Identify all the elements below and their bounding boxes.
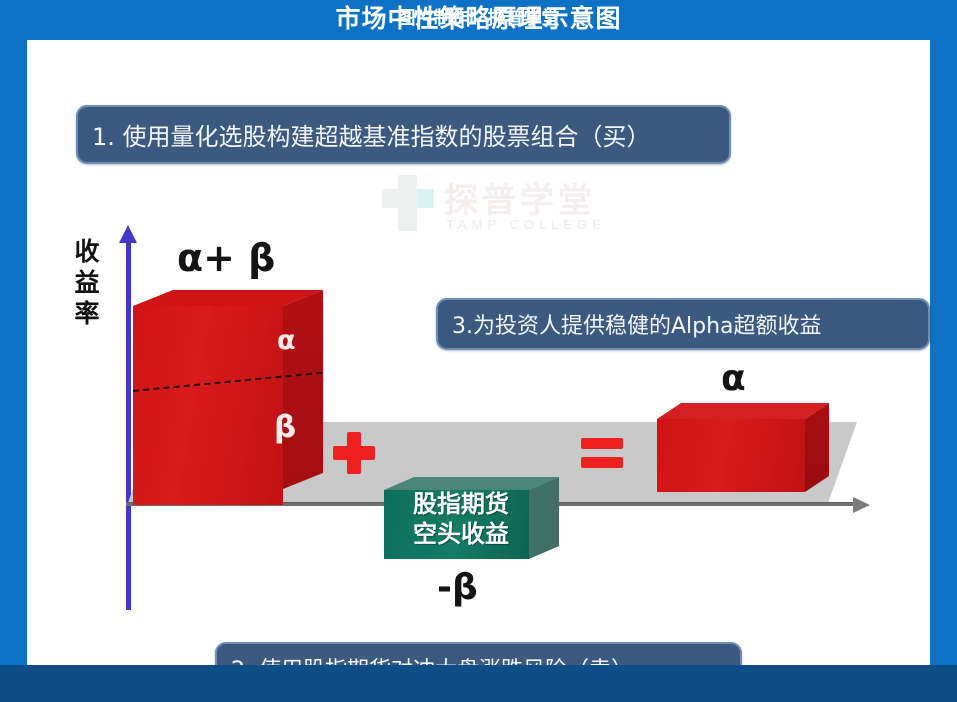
cross-logo-icon: [382, 175, 434, 231]
watermark-logo-subtitle: TAMP COLLEGE: [446, 217, 606, 232]
alpha-beta-box-front: [133, 306, 283, 505]
alpha-result-box: [657, 403, 829, 492]
plus-operator-icon: [333, 432, 375, 474]
diagram-stage: 探普学堂 TAMP COLLEGE 1. 使用量化选股构建超越基准指数的股票组合…: [27, 40, 930, 665]
green-box-label: 股指期货 空头收益: [387, 489, 535, 549]
beta-segment-label: β: [274, 409, 296, 445]
x-axis-arrow-icon: [853, 497, 870, 513]
green-box-label-line1: 股指期货: [387, 489, 535, 519]
green-box-label-line2: 空头收益: [387, 519, 535, 549]
alpha-result-box-front: [657, 419, 805, 492]
alpha-beta-box-side: [283, 290, 323, 505]
callout-step-1[interactable]: 1. 使用量化选股构建超越基准指数的股票组合（买）: [76, 105, 731, 164]
alpha-beta-box: [133, 290, 323, 505]
poster-root: 市场中性策略原理示意图 探普学堂 TAMP COLLEGE 1. 使用量化选股构…: [0, 0, 957, 702]
footer-bar: [0, 665, 957, 702]
footer-credit: 图片制作：探普学堂: [0, 0, 957, 37]
equals-operator-icon: [581, 438, 623, 468]
watermark-logo-name: 探普学堂: [444, 173, 596, 222]
tamp-college-watermark: 探普学堂 TAMP COLLEGE: [382, 173, 642, 243]
negative-beta-label: -β: [437, 567, 478, 608]
index-futures-short-box: 股指期货 空头收益: [384, 477, 559, 559]
y-axis-label: 收益率: [71, 236, 103, 329]
y-axis-line: [126, 236, 131, 610]
alpha-segment-label: α: [277, 325, 296, 356]
alpha-plus-beta-label: α+ β: [177, 236, 275, 280]
alpha-result-label: α: [721, 358, 746, 399]
callout-step-3[interactable]: 3.为投资人提供稳健的Alpha超额收益: [436, 298, 930, 350]
